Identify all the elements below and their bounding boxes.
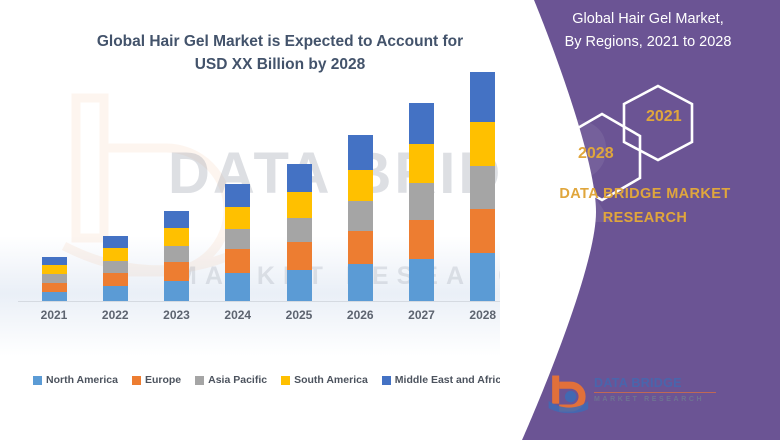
x-axis-label-2021: 2021 — [26, 308, 82, 322]
bar-group-2025 — [271, 61, 327, 301]
legend-swatch — [33, 376, 42, 385]
bar-segment — [470, 72, 495, 122]
bar-segment — [103, 261, 128, 273]
bar-segment — [348, 231, 373, 264]
panel-title: Global Hair Gel Market, By Regions, 2021… — [528, 8, 768, 54]
x-axis-label-2024: 2024 — [210, 308, 266, 322]
bar-segment — [42, 283, 67, 292]
bar-segment — [409, 144, 434, 183]
bar-group-2022 — [87, 61, 143, 301]
bar-segment — [103, 286, 128, 301]
legend-item[interactable]: Europe — [132, 374, 181, 386]
data-bridge-logo-icon — [546, 372, 590, 416]
stacked-bar — [42, 257, 67, 301]
footer-logo-subtitle: MARKET RESEARCH — [594, 395, 724, 404]
footer-logo-text: DATA BRIDGE MARKET RESEARCH — [594, 376, 724, 404]
footer-logo-divider — [594, 392, 716, 393]
legend-label: North America — [46, 374, 118, 386]
infographic-root: DATA BRIDGE MARKET RESEARCH Global Hair … — [0, 0, 780, 440]
x-axis-label-2022: 2022 — [87, 308, 143, 322]
bar-segment — [409, 220, 434, 259]
bar-segment — [225, 184, 250, 207]
hexagon-label-2021: 2021 — [646, 108, 682, 126]
bar-group-2023 — [149, 61, 205, 301]
bar-segment — [470, 166, 495, 208]
bar-segment — [103, 273, 128, 286]
bar-segment — [287, 164, 312, 193]
legend-label: Europe — [145, 374, 181, 386]
legend-swatch — [281, 376, 290, 385]
legend-swatch — [132, 376, 141, 385]
bar-segment — [225, 273, 250, 301]
bar-segment — [348, 170, 373, 201]
stacked-bar — [287, 163, 312, 301]
panel-brand-line-2: RESEARCH — [520, 206, 770, 230]
bar-segment — [225, 249, 250, 273]
bar-segment — [409, 183, 434, 220]
bar-segment — [42, 274, 67, 282]
bar-group-2024 — [210, 61, 266, 301]
bar-segment — [225, 207, 250, 229]
legend-label: South America — [294, 374, 368, 386]
panel-brand: DATA BRIDGE MARKET RESEARCH — [520, 182, 770, 230]
panel-brand-line-1: DATA BRIDGE MARKET — [520, 182, 770, 206]
legend-item[interactable]: Middle East and Africa — [382, 374, 507, 386]
panel-title-line-1: Global Hair Gel Market, — [528, 8, 768, 31]
stacked-bar — [470, 72, 495, 301]
legend-label: Middle East and Africa — [395, 374, 507, 386]
bar-segment — [164, 228, 189, 246]
chart-legend: North AmericaEuropeAsia PacificSouth Ame… — [0, 374, 540, 386]
stacked-bar-chart: 20212022202320242025202620272028 — [0, 0, 540, 400]
chart-plot-area — [26, 61, 516, 301]
legend-item[interactable]: Asia Pacific — [195, 374, 267, 386]
legend-item[interactable]: North America — [33, 374, 118, 386]
x-axis-label-2023: 2023 — [149, 308, 205, 322]
bar-group-2021 — [26, 61, 82, 301]
hexagon-label-2028: 2028 — [578, 145, 614, 163]
footer-logo-name: DATA BRIDGE — [594, 376, 724, 390]
bar-segment — [470, 122, 495, 166]
x-axis-label-2025: 2025 — [271, 308, 327, 322]
bar-segment — [409, 103, 434, 145]
x-axis-label-2027: 2027 — [394, 308, 450, 322]
bar-segment — [42, 265, 67, 274]
legend-swatch — [195, 376, 204, 385]
bar-group-2027 — [394, 61, 450, 301]
bar-segment — [409, 259, 434, 301]
bar-segment — [287, 270, 312, 301]
bar-segment — [470, 253, 495, 301]
stacked-bar — [103, 236, 128, 301]
panel-title-line-2: By Regions, 2021 to 2028 — [528, 31, 768, 54]
bar-segment — [348, 201, 373, 231]
bar-segment — [225, 229, 250, 249]
bar-segment — [164, 262, 189, 280]
bar-segment — [287, 218, 312, 242]
legend-label: Asia Pacific — [208, 374, 267, 386]
bar-segment — [348, 135, 373, 170]
bar-segment — [103, 248, 128, 261]
bar-segment — [164, 281, 189, 301]
footer-logo: DATA BRIDGE MARKET RESEARCH — [546, 372, 726, 418]
bar-segment — [470, 209, 495, 253]
legend-swatch — [382, 376, 391, 385]
bar-segment — [42, 292, 67, 301]
bar-group-2026 — [332, 61, 388, 301]
stacked-bar — [409, 103, 434, 301]
bar-segment — [42, 257, 67, 265]
bar-segment — [103, 236, 128, 248]
bar-segment — [164, 246, 189, 263]
bar-segment — [164, 211, 189, 229]
bar-segment — [348, 264, 373, 301]
stacked-bar — [348, 135, 373, 301]
stacked-bar — [225, 184, 250, 301]
x-axis-label-2026: 2026 — [332, 308, 388, 322]
x-axis-line — [18, 301, 508, 302]
bar-segment — [287, 192, 312, 218]
stacked-bar — [164, 211, 189, 301]
bar-segment — [287, 242, 312, 270]
legend-item[interactable]: South America — [281, 374, 368, 386]
